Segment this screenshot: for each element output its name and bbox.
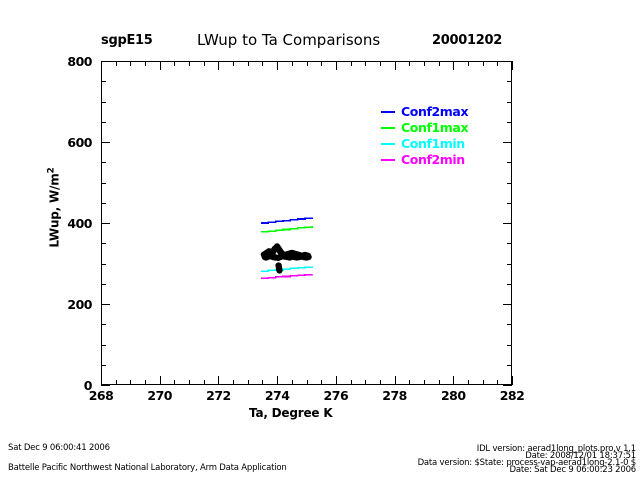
footer-timestamp: Sat Dec 9 06:00:41 2006 [8,443,110,453]
footer-organization: Battelle Pacific Northwest National Labo… [8,463,287,473]
legend-swatch-icon [381,111,395,113]
legend-swatch-icon [381,127,395,129]
x-axis-label: Ta, Degree K [249,406,332,420]
y-tick-label: 800 [50,54,92,69]
series-line-conf2min [261,274,312,278]
legend-swatch-icon [381,159,395,161]
legend-label: Conf1min [401,136,465,151]
legend-label: Conf2max [401,104,468,119]
y-axis-label: LWup, W/m2 [47,148,62,268]
y-axis-label-exponent: 2 [47,167,57,173]
series-line-conf1min [261,267,312,271]
series-line-conf1max [261,226,312,232]
y-axis-label-text: LWup, W/m [48,173,62,247]
legend-label: Conf2min [401,152,465,167]
footer-data-date: Date: Sat Dec 9 06:00:23 2006 [510,465,637,475]
plot-canvas: sgpE15 LWup to Ta Comparisons 20001202 2… [0,0,640,480]
series-line-conf2max [261,217,312,223]
legend-swatch-icon [381,143,395,145]
legend-label: Conf1max [401,120,468,135]
y-tick-label: 0 [50,378,92,393]
y-tick-label: 200 [50,297,92,312]
